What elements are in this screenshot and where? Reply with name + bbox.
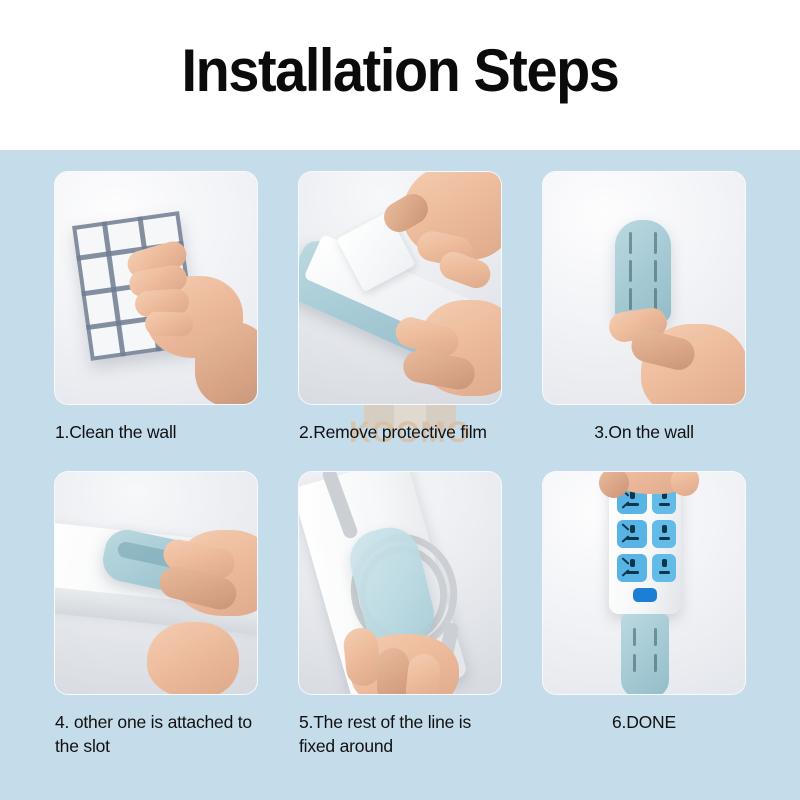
socket-two-pin <box>652 554 676 582</box>
socket-universal <box>617 520 647 548</box>
step-caption-5: 5.The rest of the line is fixed around <box>299 711 501 759</box>
step-cell-5: 5.The rest of the line is fixed around <box>299 472 501 759</box>
step-caption-6: 6.DONE <box>543 711 745 735</box>
power-switch[interactable] <box>633 588 657 602</box>
step-caption-2: 2.Remove protective film <box>299 421 501 445</box>
photo-attach-to-slot <box>55 472 257 694</box>
step-caption-3: 3.On the wall <box>543 421 745 445</box>
step-cell-1: 1.Clean the wall <box>55 172 257 445</box>
photo-line-fixed-around <box>299 472 501 694</box>
page-title: Installation Steps <box>28 0 772 150</box>
wall-bracket <box>621 614 669 694</box>
step-cell-6: 6.DONE <box>543 472 745 759</box>
steps-grid: 1.Clean the wall <box>0 150 800 800</box>
photo-clean-the-wall <box>55 172 257 404</box>
step-cell-4: 4. other one is attached to the slot <box>55 472 257 759</box>
step-cell-2: 2.Remove protective film <box>299 172 501 445</box>
step-row-1: 1.Clean the wall <box>0 172 800 445</box>
photo-done <box>543 472 745 694</box>
step-cell-3: 3.On the wall <box>543 172 745 445</box>
wall-bracket <box>615 220 671 322</box>
photo-remove-protective-film <box>299 172 501 404</box>
step-caption-4: 4. other one is attached to the slot <box>55 711 257 759</box>
socket-universal <box>617 554 647 582</box>
installation-steps-page: Installation Steps KOOMO <box>0 0 800 800</box>
photo-on-the-wall <box>543 172 745 404</box>
step-row-2: 4. other one is attached to the slot <box>0 472 800 759</box>
socket-two-pin <box>652 520 676 548</box>
step-caption-1: 1.Clean the wall <box>55 421 257 445</box>
